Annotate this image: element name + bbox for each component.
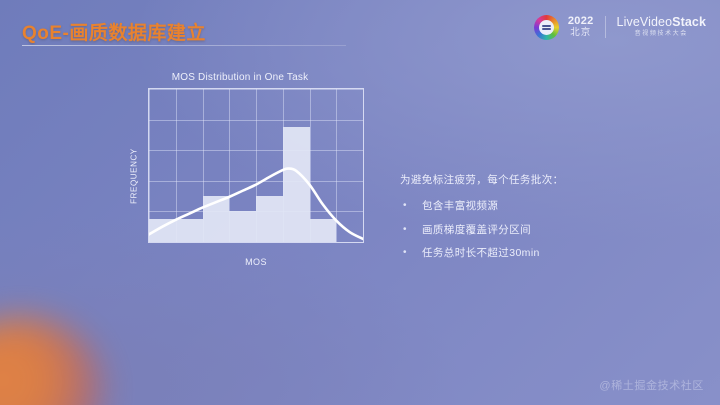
conference-ring-icon xyxy=(534,15,559,40)
brand-main-light: iveVide xyxy=(624,15,665,29)
chart-gridline-horizontal xyxy=(149,242,363,243)
list-item-label: 任务总时长不超过30min xyxy=(422,246,540,261)
chart-y-tick-mark xyxy=(148,89,149,90)
list-item-label: 画质梯度覆盖评分区间 xyxy=(422,223,531,238)
chart-x-tick-mark xyxy=(149,242,150,243)
watermark: @稀土掘金技术社区 xyxy=(599,377,704,393)
ring-inner-mark xyxy=(539,20,554,35)
livevideostack-tagline: 音视频技术大会 xyxy=(617,31,706,38)
bullet-dot-icon: • xyxy=(400,199,422,213)
notes-intro: 为避免标注疲劳，每个任务批次： xyxy=(400,172,660,187)
list-item-label: 包含丰富视频源 xyxy=(422,199,498,214)
chart-x-tick-mark xyxy=(309,242,310,243)
mos-distribution-chart: MOS Distribution in One Task FREQUENCY 0… xyxy=(104,68,376,283)
chart-y-tick-mark xyxy=(148,150,149,151)
conference-logo-group: 2022 北京 LiveVideoStack 音视频技术大会 xyxy=(534,12,706,42)
list-item: •任务总时长不超过30min xyxy=(400,246,660,261)
chart-y-axis-label: FREQUENCY xyxy=(129,148,138,204)
chart-x-axis-label: MOS xyxy=(148,257,364,267)
chart-x-tick-mark xyxy=(202,242,203,243)
decorative-orange-blob xyxy=(0,317,105,405)
slide-canvas: QoE-画质数据库建立 2022 北京 LiveVideoStack 音视频技术… xyxy=(0,0,720,405)
chart-gridline-vertical xyxy=(363,89,364,242)
chart-y-tick-mark xyxy=(148,211,149,212)
page-title: QoE-画质数据库建立 xyxy=(22,18,206,45)
list-item: •画质梯度覆盖评分区间 xyxy=(400,223,660,238)
chart-y-tick-mark xyxy=(148,180,149,181)
chart-y-tick-mark xyxy=(148,119,149,120)
conference-year-city: 2022 北京 xyxy=(568,16,594,38)
chart-x-tick-mark xyxy=(256,242,257,243)
bullet-dot-icon: • xyxy=(400,223,422,237)
notes-bullet-list: •包含丰富视频源•画质梯度覆盖评分区间•任务总时长不超过30min xyxy=(400,199,660,261)
chart-x-tick-mark xyxy=(175,242,176,243)
livevideostack-logo: LiveVideoStack 音视频技术大会 xyxy=(617,16,706,37)
title-divider xyxy=(22,45,346,46)
livevideostack-wordmark: LiveVideoStack xyxy=(617,16,706,30)
conference-city: 北京 xyxy=(568,28,594,38)
chart-plot-area: 0.00.20.40.60.81.01.01.52.02.53.03.54.04… xyxy=(148,88,364,243)
chart-title: MOS Distribution in One Task xyxy=(104,72,376,83)
chart-x-tick-mark xyxy=(336,242,337,243)
bullet-dot-icon: • xyxy=(400,246,422,260)
chart-x-tick-mark xyxy=(282,242,283,243)
chart-x-tick-mark xyxy=(363,242,364,243)
chart-kde-path xyxy=(149,169,363,239)
brand-main-bold: Stack xyxy=(672,15,706,29)
chart-x-tick-mark xyxy=(229,242,230,243)
notes-block: 为避免标注疲劳，每个任务批次： •包含丰富视频源•画质梯度覆盖评分区间•任务总时… xyxy=(400,172,660,270)
chart-kde-curve xyxy=(149,89,363,242)
list-item: •包含丰富视频源 xyxy=(400,199,660,214)
logo-divider xyxy=(605,16,606,38)
brand-prefix: L xyxy=(617,15,624,29)
